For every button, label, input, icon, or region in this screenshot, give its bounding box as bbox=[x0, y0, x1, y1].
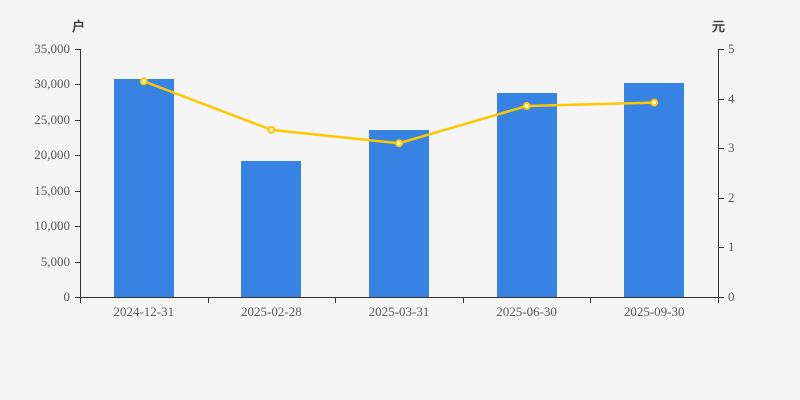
right-tick-label: 3 bbox=[728, 141, 735, 154]
x-tick-mark bbox=[208, 298, 209, 303]
right-axis-unit-label: 元 bbox=[712, 16, 725, 35]
line-marker[interactable] bbox=[268, 127, 274, 133]
left-tick-label: 30,000 bbox=[34, 77, 70, 90]
x-tick-label: 2025-02-28 bbox=[241, 305, 302, 318]
left-tick-mark bbox=[75, 155, 80, 156]
x-tick-mark bbox=[718, 298, 719, 303]
x-tick-label: 2025-03-31 bbox=[369, 305, 430, 318]
right-tick-label: 1 bbox=[728, 240, 735, 253]
left-tick-mark bbox=[75, 262, 80, 263]
left-tick-mark bbox=[75, 120, 80, 121]
left-tick-label: 20,000 bbox=[34, 148, 70, 161]
x-tick-mark bbox=[590, 298, 591, 303]
right-tick-label: 5 bbox=[728, 42, 735, 55]
right-axis-line bbox=[718, 49, 719, 298]
right-tick-mark bbox=[719, 49, 724, 50]
left-tick-mark bbox=[75, 226, 80, 227]
left-tick-label: 10,000 bbox=[34, 219, 70, 232]
left-tick-label: 35,000 bbox=[34, 42, 70, 55]
x-tick-label: 2025-09-30 bbox=[624, 305, 685, 318]
right-tick-mark bbox=[719, 198, 724, 199]
x-tick-label: 2025-06-30 bbox=[496, 305, 557, 318]
right-tick-mark bbox=[719, 247, 724, 248]
bar[interactable] bbox=[624, 83, 684, 297]
x-tick-label: 2024-12-31 bbox=[113, 305, 174, 318]
x-tick-mark bbox=[463, 298, 464, 303]
right-tick-label: 2 bbox=[728, 191, 735, 204]
left-tick-mark bbox=[75, 49, 80, 50]
bar[interactable] bbox=[114, 79, 174, 297]
right-tick-mark bbox=[719, 148, 724, 149]
left-tick-mark bbox=[75, 84, 80, 85]
left-tick-mark bbox=[75, 191, 80, 192]
x-tick-mark bbox=[80, 298, 81, 303]
bar[interactable] bbox=[241, 161, 301, 297]
chart-container: 户 元 05,00010,00015,00020,00025,00030,000… bbox=[0, 0, 800, 400]
right-tick-mark bbox=[719, 99, 724, 100]
left-tick-label: 15,000 bbox=[34, 184, 70, 197]
left-axis-unit-label: 户 bbox=[72, 16, 85, 35]
bar[interactable] bbox=[369, 130, 429, 297]
left-tick-label: 25,000 bbox=[34, 113, 70, 126]
right-tick-label: 4 bbox=[728, 92, 735, 105]
x-axis-line bbox=[80, 297, 719, 298]
right-tick-mark bbox=[719, 297, 724, 298]
left-axis-line bbox=[80, 49, 81, 298]
left-tick-label: 0 bbox=[64, 290, 71, 303]
bar[interactable] bbox=[497, 93, 557, 297]
right-tick-label: 0 bbox=[728, 290, 735, 303]
x-tick-mark bbox=[335, 298, 336, 303]
left-tick-label: 5,000 bbox=[41, 255, 70, 268]
